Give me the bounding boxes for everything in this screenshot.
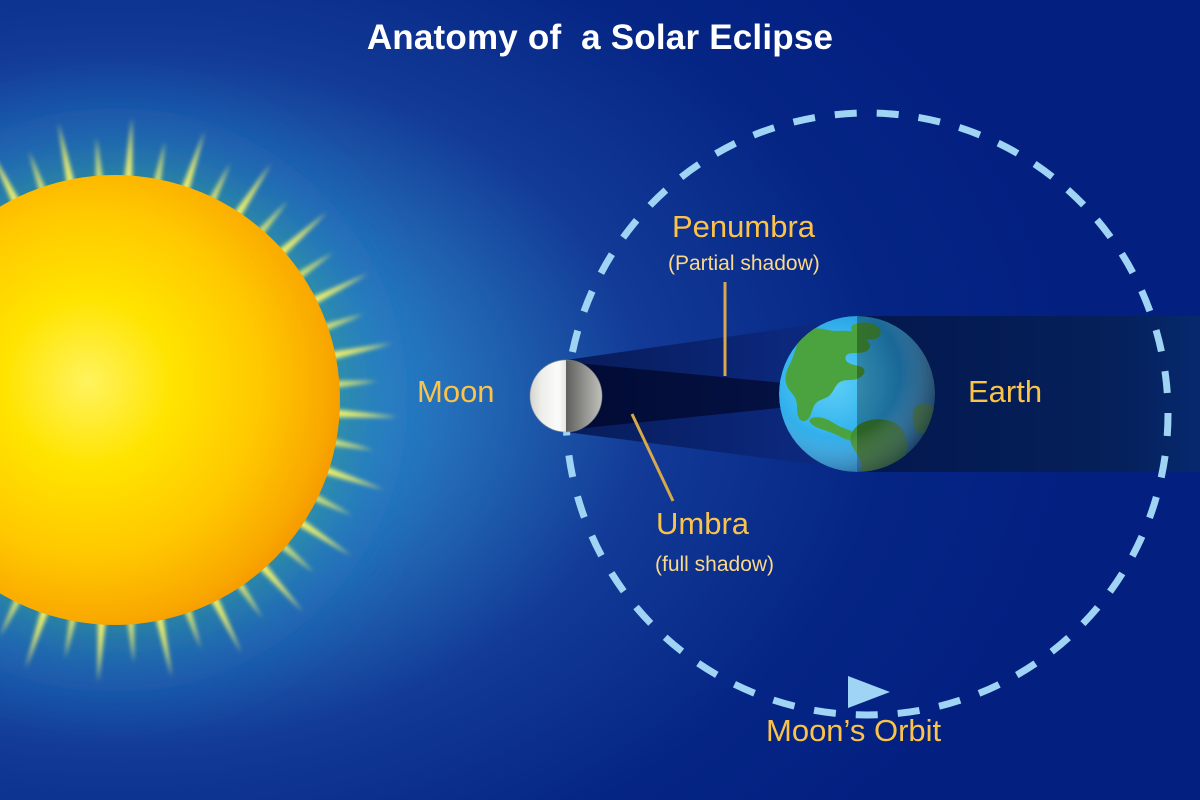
umbra-sublabel: (full shadow): [655, 553, 774, 577]
moon-orbit-label: Moon’s Orbit: [766, 713, 941, 749]
penumbra-sublabel: (Partial shadow): [668, 252, 820, 276]
umbra-label: Umbra: [656, 506, 749, 542]
earth-label: Earth: [968, 374, 1042, 410]
umbra-leader-line: [632, 414, 673, 501]
moon-label: Moon: [417, 374, 495, 410]
penumbra-label: Penumbra: [672, 209, 815, 245]
solar-eclipse-diagram: Anatomy of a Solar Eclipse Moon Earth Pe…: [0, 0, 1200, 800]
diagram-title: Anatomy of a Solar Eclipse: [0, 18, 1200, 58]
